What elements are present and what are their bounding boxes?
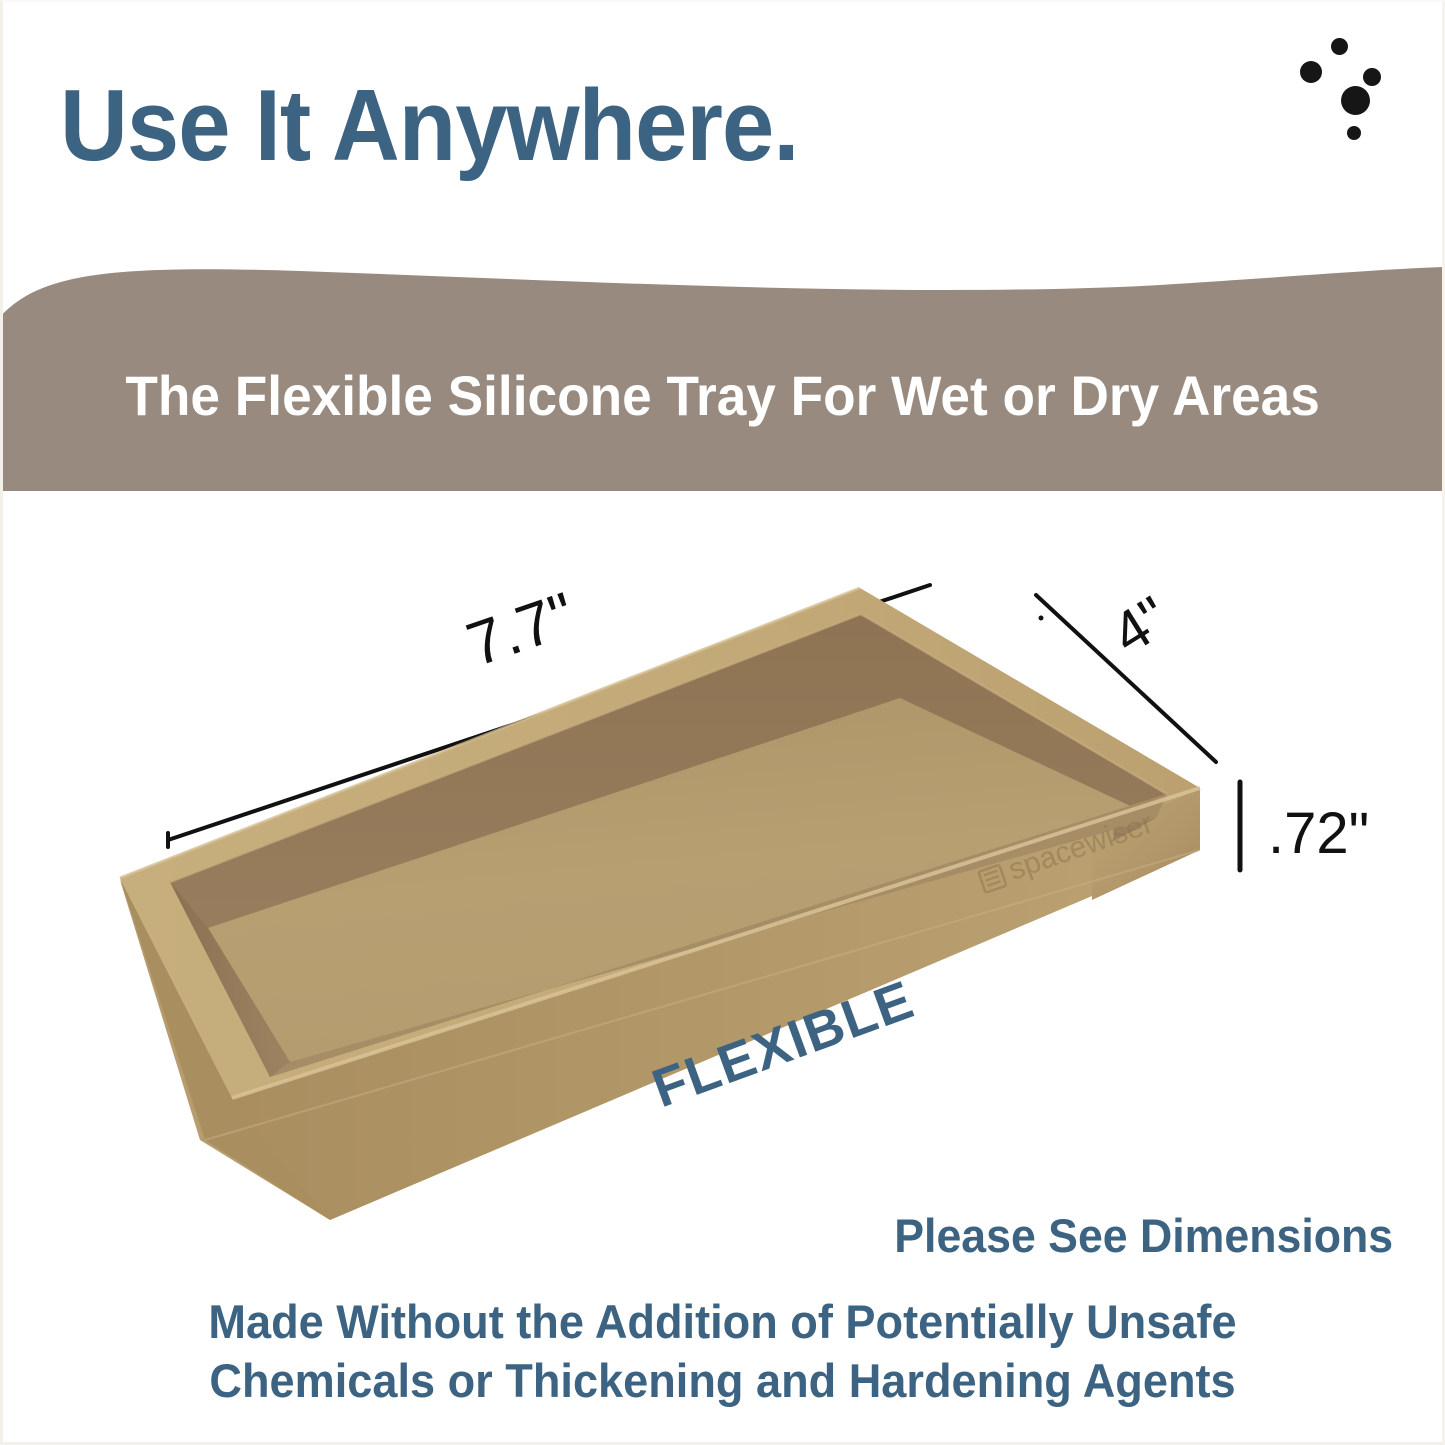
- dimension-label-height: .72": [1268, 800, 1369, 867]
- dot-cluster-decoration: [1300, 38, 1430, 178]
- page-title: Use It Anywhere.: [60, 76, 799, 177]
- safety-claim-line-2: Chemicals or Thickening and Hardening Ag…: [29, 1351, 1416, 1410]
- dot-4: [1341, 86, 1370, 115]
- subtitle-banner-text-wrap: The Flexible Silicone Tray For Wet or Dr…: [0, 255, 1445, 495]
- safety-claim-line-1: Made Without the Addition of Potentially…: [29, 1292, 1416, 1351]
- marketing-image: Use It Anywhere. The Flexible Silicone T…: [0, 0, 1445, 1445]
- safety-claim: Made Without the Addition of Potentially…: [0, 1292, 1445, 1410]
- dot-2: [1300, 61, 1322, 83]
- dot-1: [1331, 38, 1348, 55]
- subtitle-text: The Flexible Silicone Tray For Wet or Dr…: [125, 363, 1319, 428]
- see-dimensions-note: Please See Dimensions: [894, 1208, 1393, 1263]
- dot-5: [1347, 126, 1361, 140]
- product-illustration: spacewiser: [0, 500, 1445, 1280]
- dot-3: [1363, 68, 1381, 86]
